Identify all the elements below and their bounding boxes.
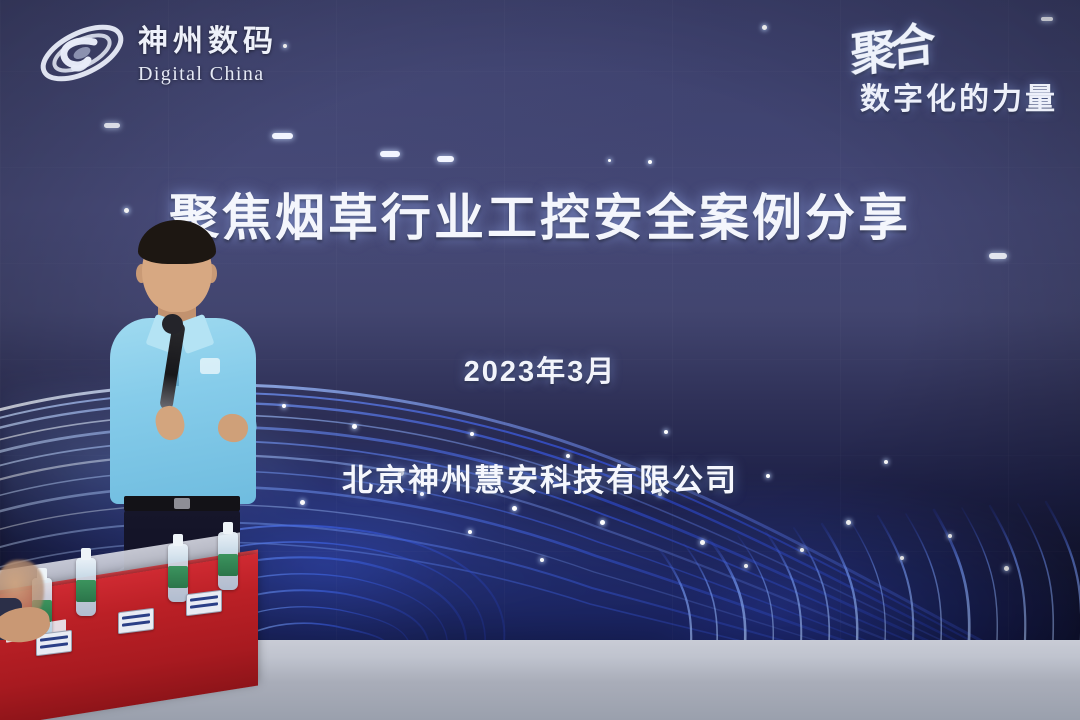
digital-china-logo: 神州数码 Digital China bbox=[36, 16, 278, 90]
water-bottle bbox=[218, 532, 238, 590]
spiral-galaxy-icon bbox=[36, 16, 128, 90]
speaker-hair bbox=[138, 220, 216, 264]
name-card bbox=[186, 590, 222, 616]
logo-chinese-name: 神州数码 bbox=[138, 27, 278, 57]
water-bottle bbox=[168, 544, 188, 602]
logo-english-name: Digital China bbox=[138, 64, 278, 84]
name-card bbox=[118, 608, 154, 634]
speaker-chest-logo bbox=[200, 358, 220, 374]
attendee-hand bbox=[0, 604, 52, 645]
speaker-belt-buckle bbox=[174, 498, 190, 509]
foreground-attendee bbox=[0, 596, 64, 666]
event-slogan: 数字化的力量 bbox=[860, 74, 1058, 118]
event-logo: 聚合 数字化的力量 bbox=[790, 14, 1058, 118]
water-bottle bbox=[76, 558, 96, 616]
conference-photo: 神州数码 Digital China 聚合 数字化的力量 聚焦烟草行业工控安全案… bbox=[0, 0, 1080, 720]
